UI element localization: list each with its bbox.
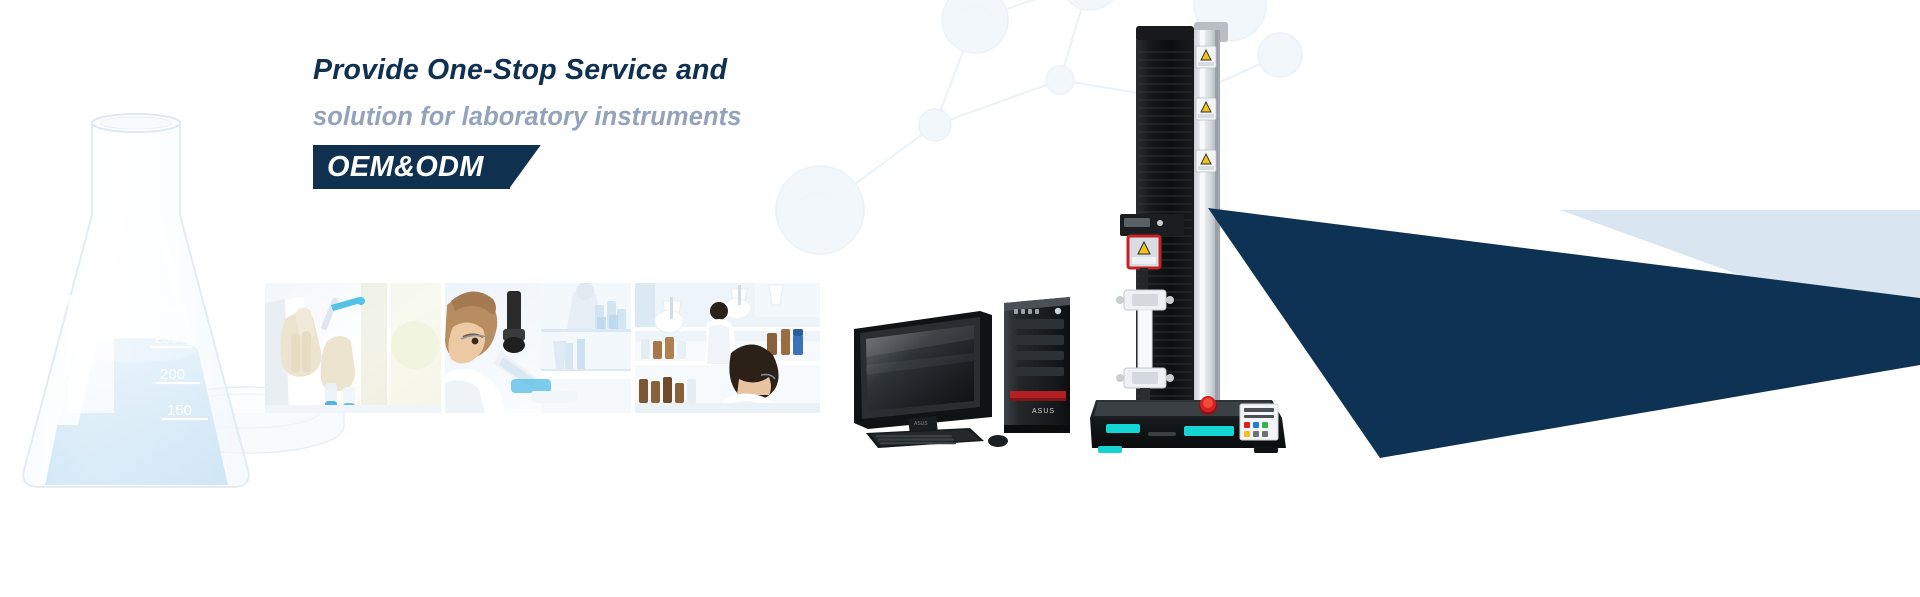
badge-arrow-tail (509, 145, 541, 189)
headline-block: Provide One-Stop Service and solution fo… (313, 56, 953, 189)
svg-text:150: 150 (167, 402, 192, 419)
monitor: ASUS (854, 311, 992, 443)
oem-odm-badge: OEM&ODM (313, 145, 510, 189)
photo-microscope (445, 283, 631, 413)
svg-text:ASUS: ASUS (914, 421, 928, 427)
decor-triangles (1200, 140, 1920, 460)
headline-line-2: solution for laboratory instruments (313, 105, 953, 131)
photo-laboratory (635, 283, 820, 413)
erlenmeyer-flask-icon: 300 250 200 150 (23, 114, 248, 487)
svg-text:ASUS: ASUS (1032, 408, 1055, 415)
headline-line-1: Provide One-Stop Service and (313, 56, 953, 85)
warning-label (1196, 46, 1216, 68)
photo-strip (265, 283, 820, 413)
pc-tower: ASUS (1004, 297, 1070, 433)
warning-label (1196, 98, 1216, 120)
keyboard (866, 428, 1008, 448)
svg-text:250: 250 (154, 330, 179, 347)
hero-banner: 300 250 200 150 Provide One-Stop Service… (0, 0, 1920, 597)
photo-pipetting (265, 283, 441, 413)
svg-text:300: 300 (146, 294, 171, 311)
desktop-computer: ASUS ASUS (852, 295, 1092, 455)
oem-odm-badge-wrap: OEM&ODM (313, 145, 510, 189)
svg-text:200: 200 (160, 366, 185, 383)
